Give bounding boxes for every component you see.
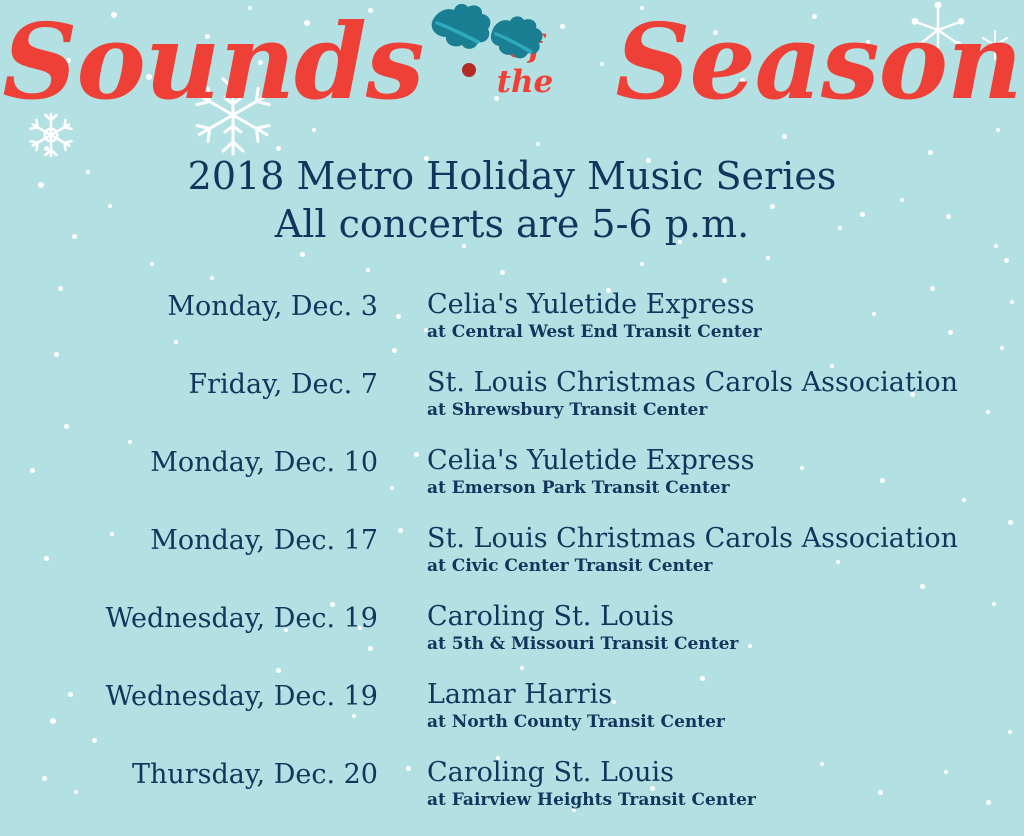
snow-dot — [150, 262, 154, 266]
snow-dot — [276, 146, 281, 151]
snow-dot — [536, 142, 540, 146]
subtitle-line-1: 2018 Metro Holiday Music Series — [0, 152, 1024, 200]
subtitle-line-2: All concerts are 5-6 p.m. — [0, 200, 1024, 248]
snow-dot — [500, 270, 505, 275]
holly-sprig-icon — [420, 0, 550, 80]
snow-dot — [366, 268, 370, 272]
concert-list-item: Friday, Dec. 7 St. Louis Christmas Carol… — [0, 366, 1024, 444]
concert-performer: St. Louis Christmas Carols Association — [427, 522, 1024, 555]
concert-performer: Celia's Yuletide Express — [427, 444, 1024, 477]
holly-leaf-icon — [432, 4, 491, 49]
snow-dot — [996, 128, 1000, 132]
holly-berry-icon — [462, 63, 476, 77]
concert-list-item: Thursday, Dec. 20 Caroling St. Louis at … — [0, 756, 1024, 834]
snow-dot — [210, 276, 214, 280]
holiday-concert-poster: SoundsSeason of the 2018 Metro Holiday M… — [0, 0, 1024, 836]
concert-list-item: Wednesday, Dec. 19 Caroling St. Louis at… — [0, 600, 1024, 678]
concert-venue: at Central West End Transit Center — [427, 321, 1024, 343]
concert-date: Friday, Dec. 7 — [0, 366, 378, 404]
concert-venue: at Shrewsbury Transit Center — [427, 399, 1024, 421]
concert-date: Monday, Dec. 10 — [0, 444, 378, 482]
title-word-season: Season — [615, 0, 1021, 123]
concert-performer: Caroling St. Louis — [427, 756, 1024, 789]
snow-dot — [44, 146, 49, 151]
concert-date: Thursday, Dec. 20 — [0, 756, 378, 794]
concert-date: Monday, Dec. 3 — [0, 288, 378, 326]
concert-venue: at Emerson Park Transit Center — [427, 477, 1024, 499]
concert-venue: at North County Transit Center — [427, 711, 1024, 733]
concert-date: Wednesday, Dec. 19 — [0, 678, 378, 716]
concert-performer: Lamar Harris — [427, 678, 1024, 711]
snow-dot — [312, 128, 316, 132]
snow-dot — [766, 256, 770, 260]
concert-venue: at 5th & Missouri Transit Center — [427, 633, 1024, 655]
concert-venue: at Fairview Heights Transit Center — [427, 789, 1024, 811]
holly-leaf-icon — [491, 16, 543, 58]
concert-details: Celia's Yuletide Express at Central West… — [378, 288, 1024, 343]
concert-list-item: Monday, Dec. 17 St. Louis Christmas Caro… — [0, 522, 1024, 600]
concert-details: St. Louis Christmas Carols Association a… — [378, 522, 1024, 577]
concert-list-item: Monday, Dec. 3 Celia's Yuletide Express … — [0, 288, 1024, 366]
concert-performer: Celia's Yuletide Express — [427, 288, 1024, 321]
concert-date: Wednesday, Dec. 19 — [0, 600, 378, 638]
concert-venue: at Civic Center Transit Center — [427, 555, 1024, 577]
poster-title: SoundsSeason of the — [0, 0, 1024, 128]
concert-performer: Caroling St. Louis — [427, 600, 1024, 633]
concert-details: Caroling St. Louis at 5th & Missouri Tra… — [378, 600, 1024, 655]
concert-details: St. Louis Christmas Carols Association a… — [378, 366, 1024, 421]
snow-dot — [640, 262, 644, 266]
snow-dot — [782, 134, 787, 139]
concert-list-item: Monday, Dec. 10 Celia's Yuletide Express… — [0, 444, 1024, 522]
concert-details: Celia's Yuletide Express at Emerson Park… — [378, 444, 1024, 499]
snow-dot — [722, 278, 727, 283]
concert-details: Caroling St. Louis at Fairview Heights T… — [378, 756, 1024, 811]
concert-date: Monday, Dec. 17 — [0, 522, 378, 560]
concert-list-item: Wednesday, Dec. 19 Lamar Harris at North… — [0, 678, 1024, 756]
snow-dot — [1004, 258, 1009, 263]
concert-performer: St. Louis Christmas Carols Association — [427, 366, 1024, 399]
poster-subtitle: 2018 Metro Holiday Music Series All conc… — [0, 152, 1024, 248]
title-word-sounds: Sounds — [2, 0, 423, 123]
snow-dot — [300, 252, 305, 257]
concert-schedule-list: Monday, Dec. 3 Celia's Yuletide Express … — [0, 288, 1024, 834]
concert-details: Lamar Harris at North County Transit Cen… — [378, 678, 1024, 733]
